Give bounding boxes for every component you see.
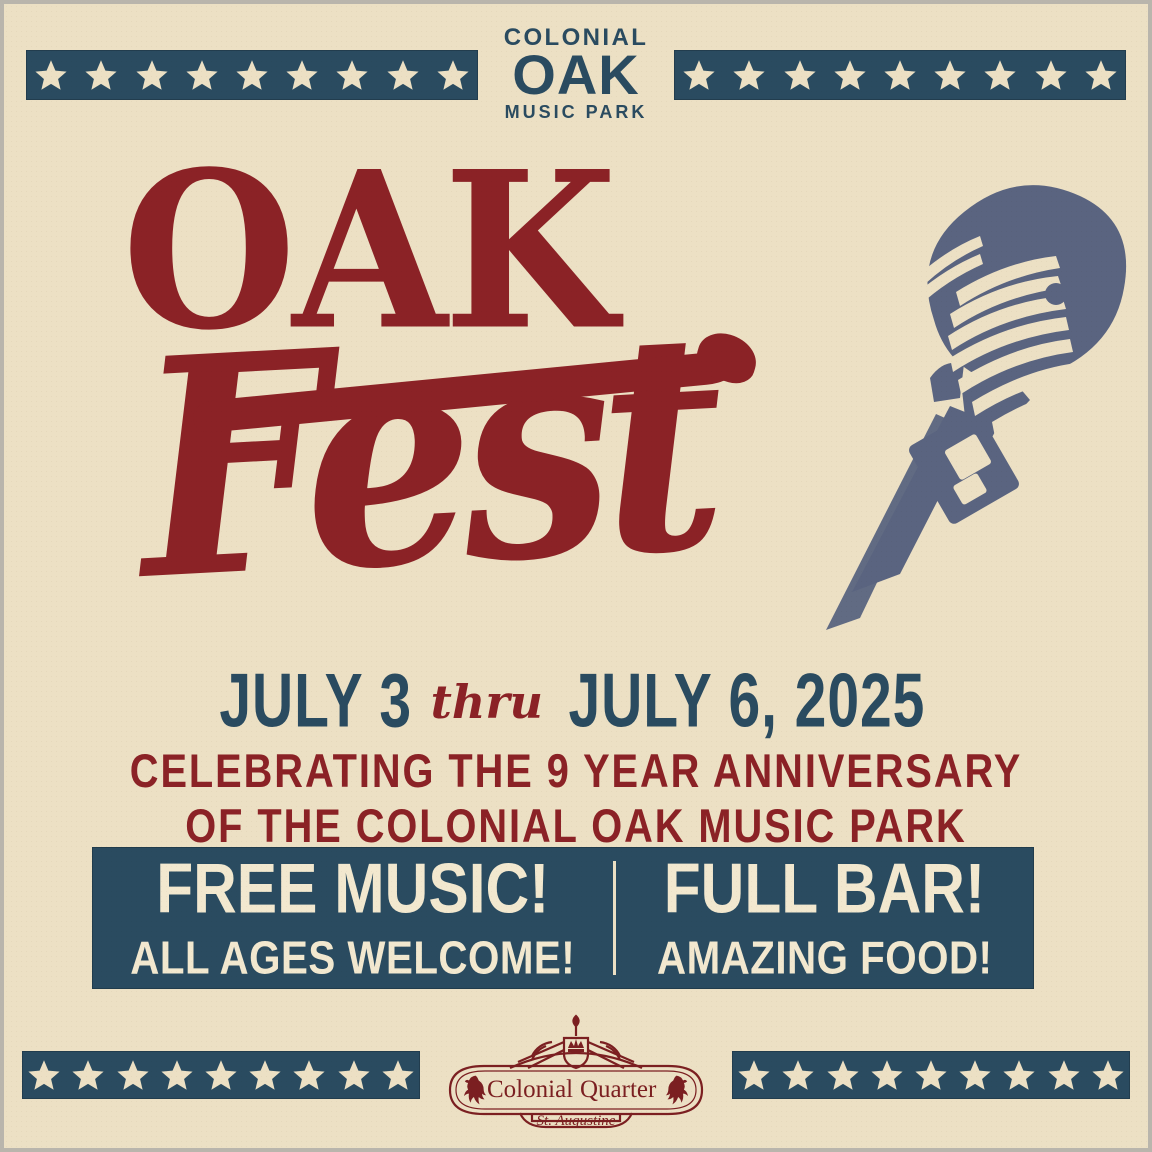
all-ages-subline: ALL AGES WELCOME! [130,934,575,980]
star-icon [71,1058,105,1092]
crown-icon [568,1039,584,1052]
star-icon [248,1058,282,1092]
date-end: JULY 6, 2025 [569,658,926,745]
star-band-top-left [26,50,478,100]
star-icon [781,1058,815,1092]
star-icon [1002,1058,1036,1092]
star-icon [436,58,470,92]
anniversary-text: CELEBRATING THE 9 YEAR ANNIVERSARY OF TH… [4,744,1148,854]
star-icon [235,58,269,92]
star-icon [826,1058,860,1092]
left-lion-rampant-icon [464,1076,486,1105]
star-icon [337,1058,371,1092]
star-icon [1034,58,1068,92]
star-icon [381,1058,415,1092]
star-band-bottom-right [732,1051,1130,1099]
poster-canvas: COLONIAL OAK MUSIC PARK OAK Fest [0,0,1152,1152]
right-lion-rampant-icon [666,1076,688,1105]
star-icon [27,1058,61,1092]
colonial-quarter-logo: Colonial Quarter St. Augustine [440,1012,712,1130]
star-icon [870,1058,904,1092]
star-icon [386,58,420,92]
star-icon [135,58,169,92]
star-icon [160,1058,194,1092]
info-column-left: FREE MUSIC! ALL AGES WELCOME! [92,847,613,989]
vintage-ribbon-microphone-icon [804,122,1144,642]
star-icon [116,1058,150,1092]
star-icon [883,58,917,92]
star-icon [84,58,118,92]
star-band-bottom-left [22,1051,420,1099]
date-connector: thru [421,675,553,729]
title-fest: Fest [132,292,720,622]
star-icon [958,1058,992,1092]
venue-logo-line-music-park: MUSIC PARK [504,103,649,121]
star-icon [914,1058,948,1092]
star-icon [1047,1058,1081,1092]
star-band-top-right [674,50,1126,100]
cq-subtitle: St. Augustine [537,1113,616,1129]
star-icon [833,58,867,92]
free-music-headline: FREE MUSIC! [156,854,549,925]
info-column-right: FULL BAR! AMAZING FOOD! [616,847,1034,989]
star-icon [682,58,716,92]
amazing-food-subline: AMAZING FOOD! [657,934,992,980]
star-icon [292,1058,326,1092]
star-icon [204,1058,238,1092]
venue-logo-line-oak: OAK [504,48,649,101]
star-icon [933,58,967,92]
date-start: JULY 3 [220,658,413,745]
star-icon [34,58,68,92]
full-bar-headline: FULL BAR! [664,854,985,925]
star-icon [285,58,319,92]
venue-logo: COLONIAL OAK MUSIC PARK [504,26,649,121]
info-box: FREE MUSIC! ALL AGES WELCOME! FULL BAR! … [92,847,1034,989]
cq-name-part2: Quarter [580,1076,657,1103]
star-icon [983,58,1017,92]
star-icon [737,1058,771,1092]
event-date-line: JULY 3thruJULY 6, 2025 [4,666,1148,737]
star-icon [1091,1058,1125,1092]
star-icon [335,58,369,92]
star-icon [185,58,219,92]
star-icon [783,58,817,92]
star-icon [1084,58,1118,92]
star-icon [732,58,766,92]
cq-name-part1: Colonial [487,1076,573,1103]
